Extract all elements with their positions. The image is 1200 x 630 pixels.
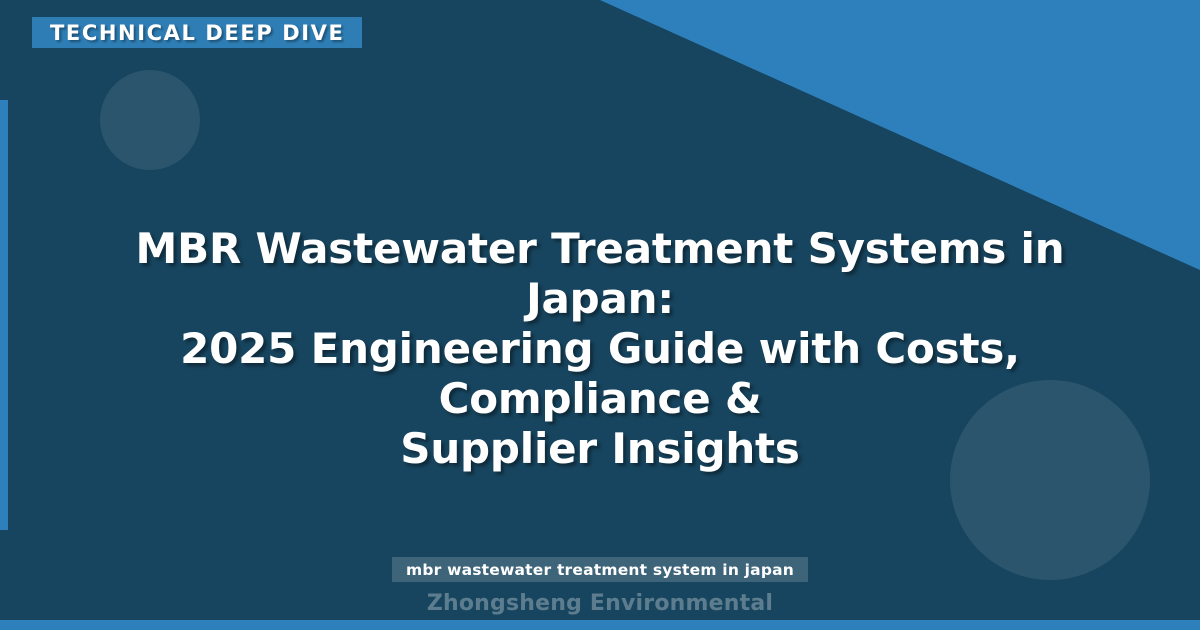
bottom-accent-bar: [0, 620, 1200, 630]
title-line-2: 2025 Engineering Guide with Costs, Compl…: [180, 324, 1020, 423]
category-badge: TECHNICAL DEEP DIVE: [32, 17, 362, 48]
brand-watermark: Zhongsheng Environmental: [0, 591, 1200, 616]
social-share-card: TECHNICAL DEEP DIVE MBR Wastewater Treat…: [0, 0, 1200, 630]
brand-watermark-label: Zhongsheng Environmental: [427, 591, 773, 616]
keyword-tag: mbr wastewater treatment system in japan: [392, 557, 808, 582]
keyword-tag-label: mbr wastewater treatment system in japan: [406, 561, 794, 579]
title-line-1: MBR Wastewater Treatment Systems in Japa…: [136, 224, 1065, 323]
left-accent-bar: [0, 100, 8, 530]
page-title: MBR Wastewater Treatment Systems in Japa…: [60, 224, 1140, 474]
title-heading: MBR Wastewater Treatment Systems in Japa…: [60, 224, 1140, 474]
title-line-3: Supplier Insights: [400, 424, 799, 473]
decorative-circle-small: [100, 70, 200, 170]
category-badge-label: TECHNICAL DEEP DIVE: [50, 21, 344, 45]
